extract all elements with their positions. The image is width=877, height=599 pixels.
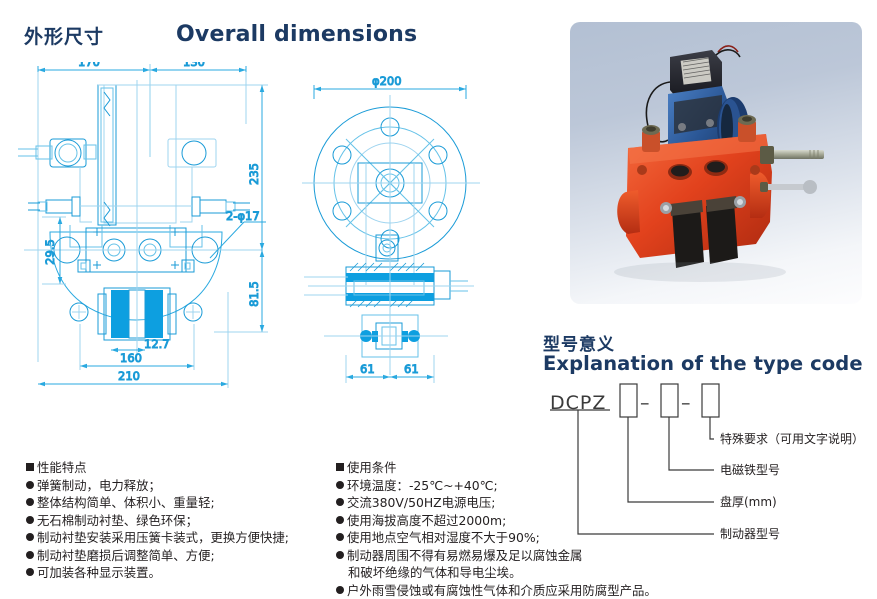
list-item-continuation: 和破坏绝缘的气体和导电尘埃。 (336, 564, 736, 582)
list-item-text: 制动器周围不得有易燃易爆及足以腐蚀金属 (347, 548, 582, 563)
adjuster-rod (760, 146, 824, 164)
features-heading-text: 性能特点 (37, 460, 87, 475)
round-bullet-icon (336, 586, 344, 594)
front-view-drawing: 170 130 (14, 62, 294, 411)
dim-phi-200: φ200 (372, 74, 402, 88)
type-code-prefix: DCPZ (550, 392, 606, 414)
round-bullet-icon (336, 516, 344, 524)
round-bullet-icon (336, 498, 344, 506)
list-item-text: 制动衬垫安装采用压簧卡装式，更换方便快捷; (37, 530, 289, 545)
list-item: 使用地点空气相对湿度不大于90%; (336, 529, 736, 547)
page-title-cn: 外形尺寸 (24, 22, 104, 49)
list-item-text: 制动衬垫磨损后调整简单、方便; (37, 548, 215, 563)
dim-235: 235 (247, 163, 261, 185)
list-item: 可加装各种显示装置。 (26, 564, 336, 582)
list-item-text: 无石棉制动衬垫、绿色环保； (37, 513, 198, 528)
list-item-text: 整体结构简单、体积小、重量轻; (37, 495, 215, 510)
conditions-list: 使用条件 环境温度：-25℃~+40℃; 交流380V/50HZ电源电压; 使用… (336, 459, 736, 599)
dim-170: 170 (78, 62, 100, 69)
dim-12-7: 12.7 (144, 337, 170, 351)
product-photo (570, 22, 862, 304)
dim-2-phi-17: 2-φ17 (226, 209, 260, 223)
round-bullet-icon (26, 498, 34, 506)
type-code-separator-1: – (640, 392, 651, 414)
list-item-text: 户外雨雪侵蚀或有腐蚀性气体和介质应采用防腐型产品。 (347, 583, 657, 598)
dim-210: 210 (118, 369, 140, 383)
list-item: 使用海拔高度不超过2000m; (336, 512, 736, 530)
round-bullet-icon (336, 533, 344, 541)
list-item: 制动衬垫磨损后调整简单、方便; (26, 547, 336, 565)
list-item: 制动器周围不得有易燃易爆及足以腐蚀金属 (336, 547, 736, 565)
round-bullet-icon (26, 551, 34, 559)
features-heading: 性能特点 (26, 459, 336, 477)
type-code-separator-2: – (681, 392, 692, 414)
list-item: 制动衬垫安装采用压簧卡装式，更换方便快捷; (26, 529, 336, 547)
round-bullet-icon (336, 481, 344, 489)
list-item: 户外雨雪侵蚀或有腐蚀性气体和介质应采用防腐型产品。 (336, 582, 736, 599)
list-item-text: 环境温度：-25℃~+40℃; (347, 478, 498, 493)
list-item-text: 和破坏绝缘的气体和导电尘埃。 (348, 565, 521, 580)
list-item: 环境温度：-25℃~+40℃; (336, 477, 736, 495)
list-item: 无石棉制动衬垫、绿色环保； (26, 512, 336, 530)
round-bullet-icon (26, 568, 34, 576)
round-bullet-icon (336, 551, 344, 559)
list-item-text: 弹簧制动，电力释放； (37, 478, 161, 493)
square-bullet-icon (336, 463, 344, 471)
list-item-text: 使用海拔高度不超过2000m; (347, 513, 506, 528)
round-bullet-icon (26, 533, 34, 541)
datasheet-page: 外形尺寸 Overall dimensions 170 (0, 0, 877, 599)
round-bullet-icon (26, 481, 34, 489)
dim-61-right: 61 (404, 362, 419, 376)
page-title-en: Overall dimensions (176, 22, 417, 47)
dim-130: 130 (183, 62, 205, 69)
dim-61-left: 61 (360, 362, 375, 376)
list-item: 整体结构简单、体积小、重量轻; (26, 494, 336, 512)
conditions-heading-text: 使用条件 (347, 460, 397, 475)
dim-160: 160 (120, 351, 142, 365)
list-item-text: 交流380V/50HZ电源电压; (347, 495, 495, 510)
list-item: 弹簧制动，电力释放； (26, 477, 336, 495)
type-code-label-special: 特殊要求（可用文字说明） (720, 431, 864, 446)
features-list: 性能特点 弹簧制动，电力释放； 整体结构简单、体积小、重量轻; 无石棉制动衬垫、… (26, 459, 336, 582)
list-item-text: 可加装各种显示装置。 (37, 565, 161, 580)
list-item-text: 使用地点空气相对湿度不大于90%; (347, 530, 540, 545)
list-item: 交流380V/50HZ电源电压; (336, 494, 736, 512)
dim-81-5: 81.5 (247, 281, 261, 307)
conditions-heading: 使用条件 (336, 459, 736, 477)
type-code-title-en: Explanation of the type code (543, 352, 863, 375)
dim-29-5: 29.5 (43, 239, 57, 265)
side-view-drawing: φ200 (298, 55, 533, 409)
round-bullet-icon (26, 516, 34, 524)
square-bullet-icon (26, 463, 34, 471)
